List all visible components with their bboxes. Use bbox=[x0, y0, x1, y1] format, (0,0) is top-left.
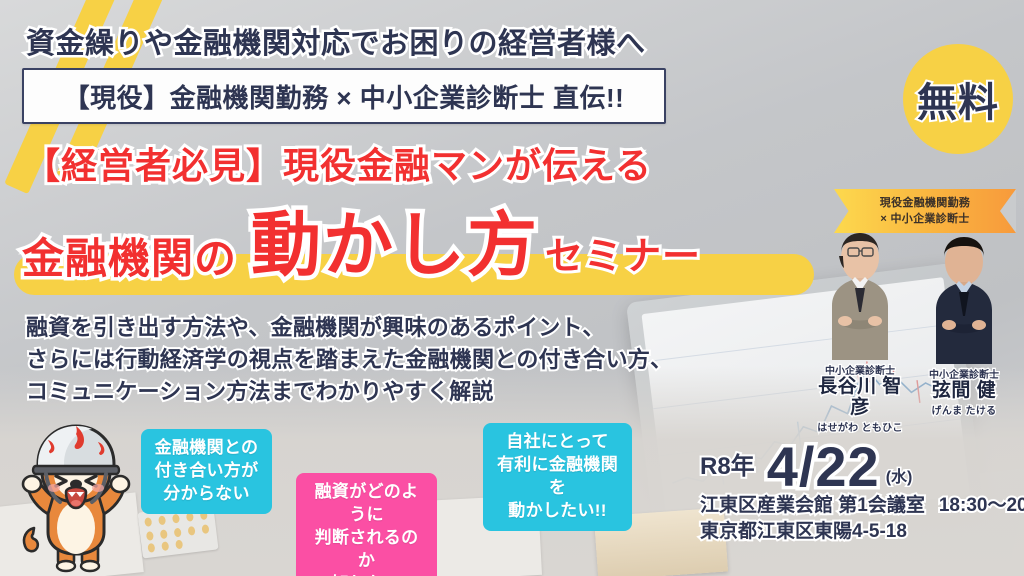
ribbon-line-1: 現役金融機関勤務 bbox=[880, 195, 970, 212]
lead-headline: 資金繰りや金融機関対応でお困りの経営者様へ bbox=[26, 20, 646, 62]
speaker-kana: げんま たける bbox=[916, 402, 1012, 417]
ribbon-line-2: × 中小企業診断士 bbox=[880, 211, 969, 228]
speaker-card: 中小企業診断士 弦間 健 げんま たける bbox=[916, 232, 1012, 417]
speaker-caption: 中小企業診断士 長谷川 智彦 はせがわ ともひこ bbox=[812, 362, 908, 434]
bubble-line: 動かしたい!! bbox=[495, 500, 620, 523]
red-headline: 【経営者必見】現役金融マンが伝える bbox=[24, 137, 652, 189]
bubble-line: 判断されるのか bbox=[308, 527, 425, 573]
event-date: 4/22 bbox=[767, 440, 880, 493]
bubble-line: 金融機関との bbox=[153, 437, 260, 460]
description-line: さらには行動経済学の視点を踏まえた金融機関との付き合い方、 bbox=[26, 344, 672, 376]
free-badge-label: 無料 bbox=[917, 70, 999, 128]
description-line: コミュニケーション方法までわかりやすく解説 bbox=[26, 376, 672, 408]
main-title: 金融機関の 動かし方 セミナー bbox=[22, 210, 701, 280]
speaker-card: 中小企業診断士 長谷川 智彦 はせがわ ともひこ bbox=[812, 228, 908, 434]
speaker-caption: 中小企業診断士 弦間 健 げんま たける bbox=[916, 366, 1012, 417]
speaker-role: 中小企業診断士 bbox=[812, 362, 908, 377]
speaker-name: 長谷川 智彦 bbox=[812, 377, 908, 419]
bubble-line: 有利に金融機関を bbox=[495, 454, 620, 500]
speaker-name: 弦間 健 bbox=[916, 381, 1012, 402]
bubble-line: 付き合い方が bbox=[153, 460, 260, 483]
event-venue: 江東区産業会館 第1会議室 bbox=[700, 493, 925, 519]
subtitle-box: 【現役】金融機関勤務 × 中小企業診断士 直伝!! bbox=[22, 68, 666, 124]
event-venue-row: 江東区産業会館 第1会議室 18:30〜20:30 bbox=[700, 493, 1024, 519]
event-date-row: R8年 4/22 (水) bbox=[700, 440, 1024, 493]
title-prefix: 金融機関の bbox=[22, 238, 237, 280]
bubble-line: 融資がどのように bbox=[308, 481, 425, 527]
pain-point-bubble: 金融機関との 付き合い方が 分からない bbox=[141, 429, 272, 514]
free-badge: 無料 bbox=[903, 44, 1013, 154]
event-year: R8年 bbox=[700, 446, 755, 493]
credentials-ribbon: 現役金融機関勤務 × 中小企業診断士 bbox=[834, 189, 1016, 233]
event-day-of-week: (水) bbox=[886, 463, 913, 493]
person-portrait-icon bbox=[812, 228, 908, 360]
title-emphasis: 動かし方 bbox=[251, 210, 539, 280]
pain-point-bubble: 自社にとって 有利に金融機関を 動かしたい!! bbox=[483, 423, 632, 531]
speaker-role: 中小企業診断士 bbox=[916, 366, 1012, 381]
pain-point-bubble: 融資がどのように 判断されるのか 知りたい bbox=[296, 473, 437, 576]
speaker-kana: はせがわ ともひこ bbox=[812, 419, 908, 434]
shiba-dog-mascot-icon bbox=[12, 418, 138, 576]
event-time: 18:30〜20:30 bbox=[939, 493, 1024, 519]
description-block: 融資を引き出す方法や、金融機関が興味のあるポイント、 さらには行動経済学の視点を… bbox=[26, 312, 672, 408]
speaker-photo bbox=[812, 228, 908, 360]
description-line: 融資を引き出す方法や、金融機関が興味のあるポイント、 bbox=[26, 312, 672, 344]
subtitle-text: 【現役】金融機関勤務 × 中小企業診断士 直伝!! bbox=[64, 78, 625, 115]
event-details: R8年 4/22 (水) 江東区産業会館 第1会議室 18:30〜20:30 東… bbox=[700, 440, 1024, 544]
title-suffix: セミナー bbox=[545, 238, 701, 280]
bubble-line: 自社にとって bbox=[495, 431, 620, 454]
speaker-photo bbox=[916, 232, 1012, 364]
event-address: 東京都江東区東陽4-5-18 bbox=[700, 519, 1024, 545]
person-portrait-icon bbox=[916, 232, 1012, 364]
speakers-block: 中小企業診断士 長谷川 智彦 はせがわ ともひこ bbox=[812, 228, 1024, 410]
shiba-dog-mascot bbox=[12, 418, 138, 576]
bubble-line: 分からない bbox=[153, 483, 260, 506]
